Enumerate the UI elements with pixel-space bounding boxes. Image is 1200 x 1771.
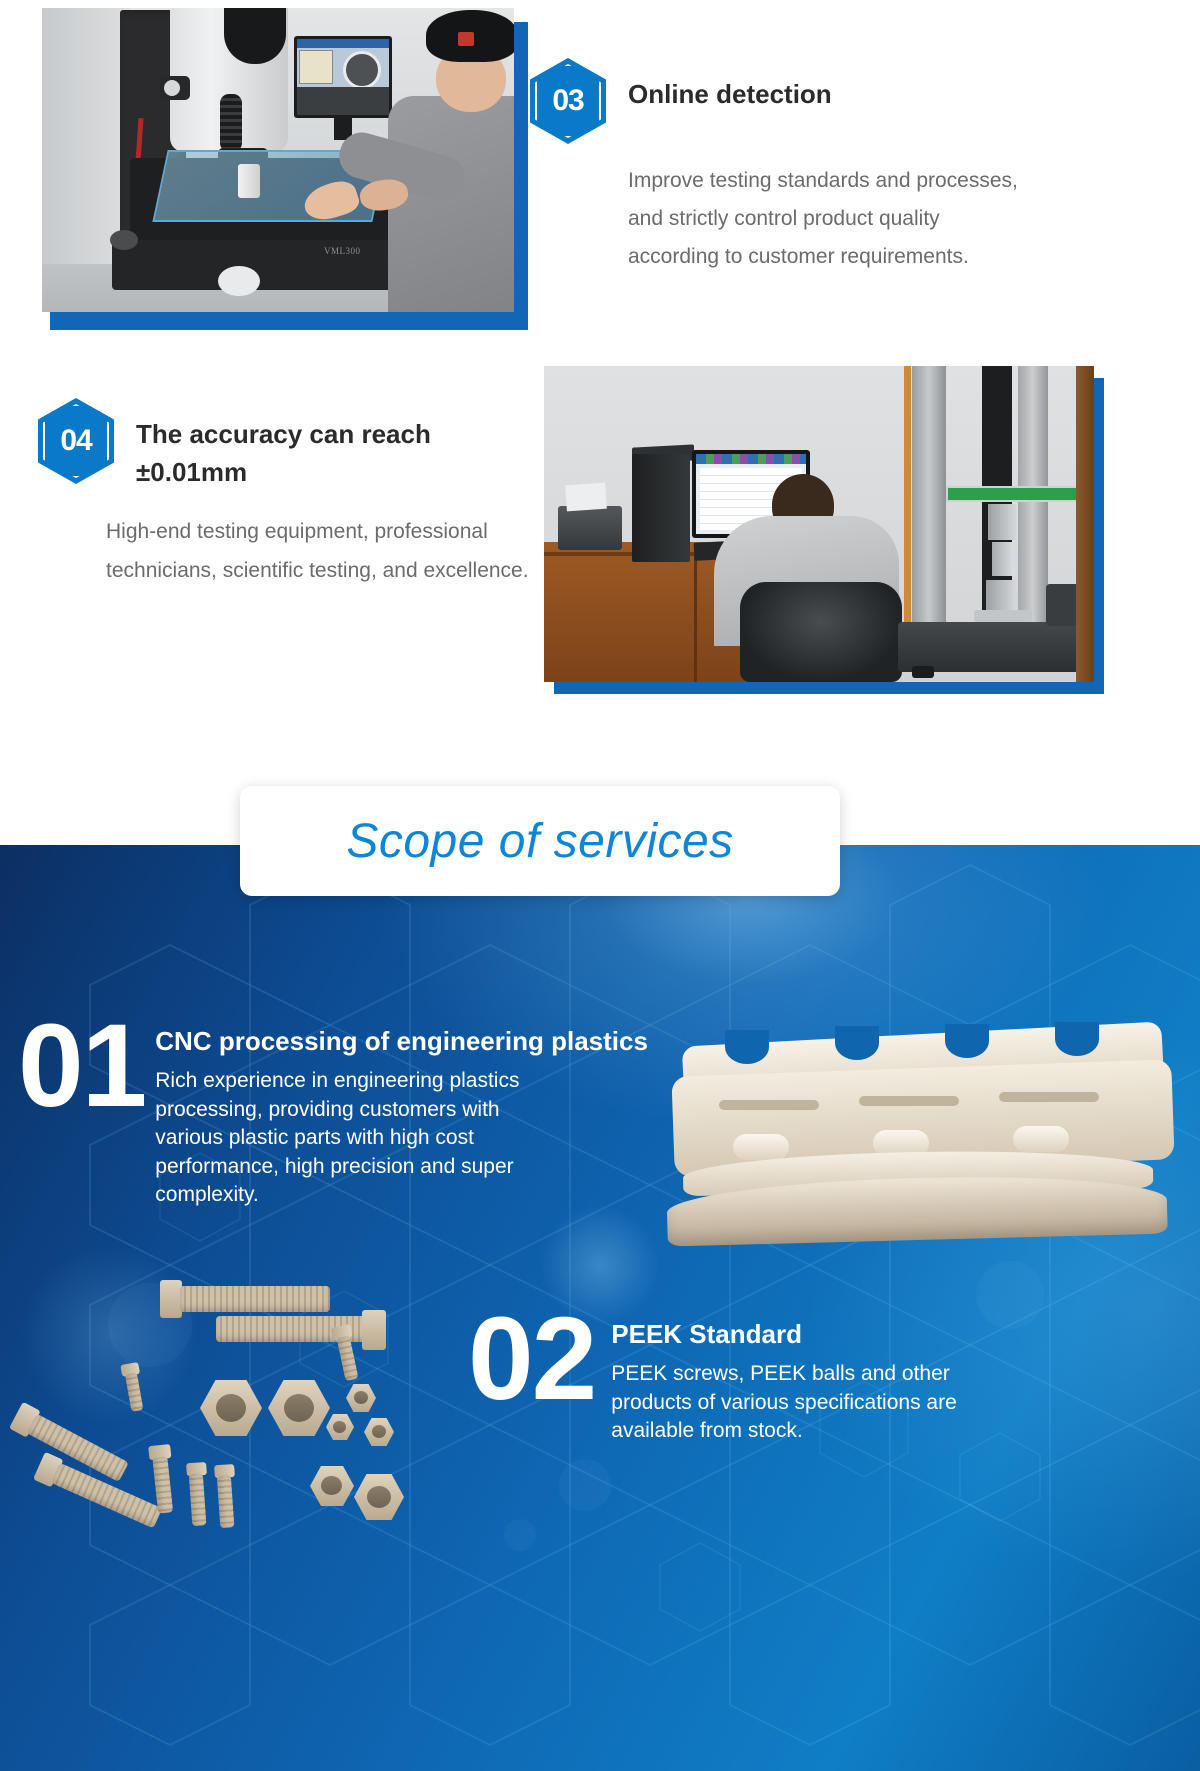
part-bump: [1013, 1126, 1069, 1152]
pc-tower: [632, 454, 690, 562]
screen-lower-pane: [297, 87, 389, 115]
nut-hole: [367, 1486, 391, 1508]
accuracy-testing-photo: [544, 366, 1094, 682]
machine-right-column: [1018, 366, 1048, 638]
service-01-body: CNC processing of engineering plastics R…: [155, 1012, 648, 1210]
feature-04-block: 04 The accuracy can reach ±0.01mm High-e…: [38, 398, 538, 590]
feature-03-description: Improve testing standards and processes,…: [628, 162, 1020, 277]
bolt-head: [362, 1310, 386, 1350]
machine-focus-knob: [160, 76, 190, 100]
feature-04-description: High-end testing equipment, professional…: [106, 513, 536, 589]
part-slot: [999, 1092, 1099, 1102]
machine-roller: [218, 266, 260, 296]
room-door: [1076, 366, 1094, 682]
machine-grip-upper: [988, 504, 1016, 540]
part-notch: [1055, 1022, 1099, 1056]
nut-hole: [354, 1391, 368, 1404]
feature-04-photo-wrapper: [544, 366, 1104, 692]
feature-04-heading-row: 04 The accuracy can reach ±0.01mm: [38, 398, 538, 491]
bolt-shaft: [180, 1286, 330, 1312]
part-notch: [725, 1030, 769, 1064]
nut-hole: [216, 1394, 246, 1422]
part-notch: [945, 1024, 989, 1058]
screen-toolbar: [696, 454, 806, 464]
nut-hole: [321, 1476, 342, 1495]
online-detection-photo: VML300: [42, 8, 514, 312]
machine-roller-side: [110, 230, 138, 250]
machine-left-column: [912, 366, 946, 638]
page-root: VML300 03 Online dete: [0, 0, 1200, 1771]
scope-title-text: Scope of services: [346, 814, 733, 869]
tensile-testing-machine: [896, 366, 1094, 682]
part-slot: [859, 1096, 959, 1106]
feature-03-title: Online detection: [628, 58, 832, 114]
machine-orange-strip: [904, 366, 911, 638]
desk-door-seam: [694, 556, 697, 682]
machine-model-label: VML300: [324, 246, 361, 256]
screen-measured-circle: [343, 51, 381, 89]
measured-sample: [238, 164, 260, 198]
machine-grip-lower: [986, 580, 1016, 610]
machine-lens-barrel: [224, 8, 286, 64]
machine-specimen: [992, 542, 1014, 576]
bolt-head: [160, 1280, 182, 1318]
peek-fasteners-photo: [20, 1268, 480, 1568]
feature-04-number: 04: [38, 398, 114, 484]
bolt-shaft: [337, 1335, 359, 1381]
nut-hole: [284, 1394, 314, 1422]
feature-03-heading-row: 03 Online detection: [530, 58, 1170, 144]
feature-03-block: 03 Online detection Improve testing stan…: [530, 58, 1170, 277]
screen-toolbar: [297, 39, 389, 48]
service-02-body: PEEK Standard PEEK screws, PEEK balls an…: [611, 1305, 991, 1446]
hexagon-badge-icon: 04: [38, 398, 114, 484]
machine-plate: [974, 610, 1032, 622]
bolt-shaft: [189, 1473, 207, 1526]
feature-03-photo-wrapper: VML300: [42, 8, 520, 328]
part-slot: [719, 1100, 819, 1110]
operator-cap-logo: [458, 32, 474, 46]
machine-cable-coil: [220, 94, 242, 152]
service-01-description: Rich experience in engineering plastics …: [155, 1067, 555, 1210]
nut-hole: [333, 1421, 346, 1433]
printer-paper: [565, 483, 607, 512]
printer: [558, 506, 622, 550]
machine-monitor: [294, 36, 392, 118]
service-01-title: CNC processing of engineering plastics: [155, 1026, 648, 1057]
feature-03-number: 03: [530, 58, 606, 144]
machine-crossbeam: [946, 486, 1086, 502]
service-02-title: PEEK Standard: [611, 1319, 991, 1350]
machine-monitor-screen: [297, 39, 389, 115]
cnc-plastic-part-photo: [655, 1028, 1195, 1278]
hexagon-badge-icon: 03: [530, 58, 606, 144]
bolt-shaft: [125, 1372, 143, 1412]
service-02-number: 02: [468, 1305, 595, 1446]
bolt-shaft: [217, 1475, 235, 1528]
part-bump: [733, 1134, 789, 1160]
service-02-description: PEEK screws, PEEK balls and other produc…: [611, 1360, 991, 1446]
nut-hole: [372, 1425, 386, 1438]
scope-title-card: Scope of services: [240, 786, 840, 896]
machine-base: [898, 622, 1094, 672]
office-chair: [740, 582, 902, 682]
machine-foot: [912, 666, 934, 678]
features-section: VML300 03 Online dete: [0, 0, 1200, 845]
operator-figure: [394, 32, 514, 312]
screen-panel: [299, 50, 333, 84]
service-01: 01 CNC processing of engineering plastic…: [18, 1012, 658, 1210]
service-01-number: 01: [18, 1012, 145, 1210]
feature-04-title: The accuracy can reach ±0.01mm: [136, 398, 496, 491]
service-02: 02 PEEK Standard PEEK screws, PEEK balls…: [468, 1305, 1188, 1446]
operator-body: [388, 96, 514, 312]
part-notch: [835, 1026, 879, 1060]
